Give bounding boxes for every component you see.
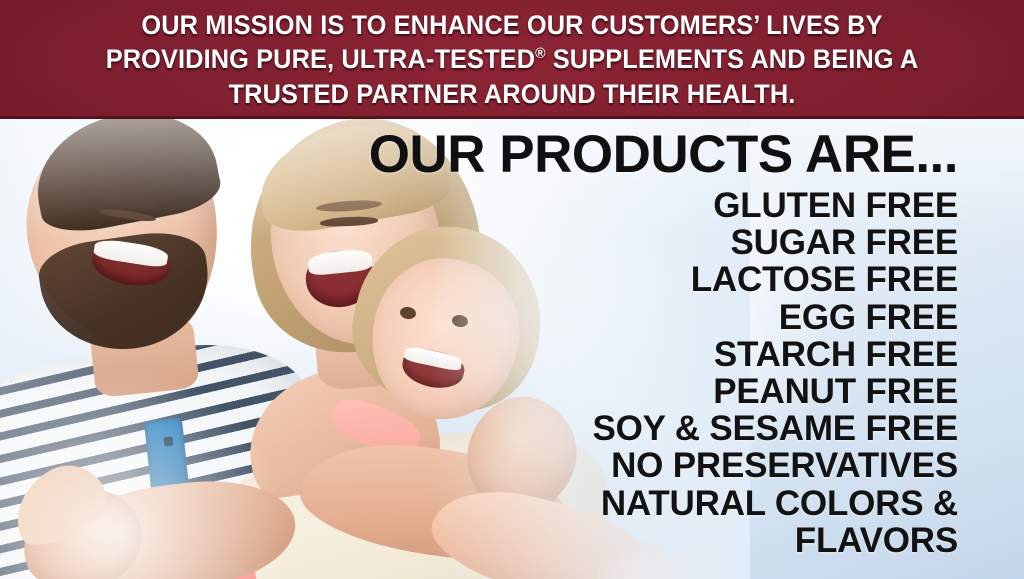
family-photo: OUR PRODUCTS ARE... GLUTEN FREE SUGAR FR…	[0, 119, 1024, 579]
mission-banner: OUR MISSION IS TO ENHANCE OUR CUSTOMERS’…	[0, 0, 1024, 119]
list-item: FLAVORS	[358, 522, 958, 559]
list-item: SOY & SESAME FREE	[358, 410, 958, 447]
mission-line-2-part-a: PROVIDING PURE, ULTRA-TESTED	[106, 44, 535, 74]
shirt-button	[164, 437, 174, 447]
list-item: STARCH FREE	[358, 336, 958, 373]
list-item: SUGAR FREE	[358, 224, 958, 261]
mission-statement: OUR MISSION IS TO ENHANCE OUR CUSTOMERS’…	[31, 8, 994, 112]
mission-line-3: TRUSTED PARTNER AROUND THEIR HEALTH.	[229, 79, 796, 109]
list-item: PEANUT FREE	[358, 373, 958, 410]
list-item: NATURAL COLORS &	[358, 485, 958, 522]
list-item: EGG FREE	[358, 299, 958, 336]
list-item: GLUTEN FREE	[358, 187, 958, 224]
marketing-poster: OUR MISSION IS TO ENHANCE OUR CUSTOMERS’…	[0, 0, 1024, 579]
products-headline: OUR PRODUCTS ARE...	[358, 126, 958, 184]
products-panel: OUR PRODUCTS ARE... GLUTEN FREE SUGAR FR…	[358, 119, 958, 579]
mission-line-2-part-b: SUPPLEMENTS AND BEING A	[546, 44, 919, 74]
list-item: NO PRESERVATIVES	[358, 447, 958, 484]
registered-trademark-icon: ®	[535, 45, 545, 62]
mission-line-1: OUR MISSION IS TO ENHANCE OUR CUSTOMERS’…	[141, 10, 882, 40]
list-item: LACTOSE FREE	[358, 261, 958, 298]
product-claims-list: GLUTEN FREE SUGAR FREE LACTOSE FREE EGG …	[358, 187, 958, 559]
